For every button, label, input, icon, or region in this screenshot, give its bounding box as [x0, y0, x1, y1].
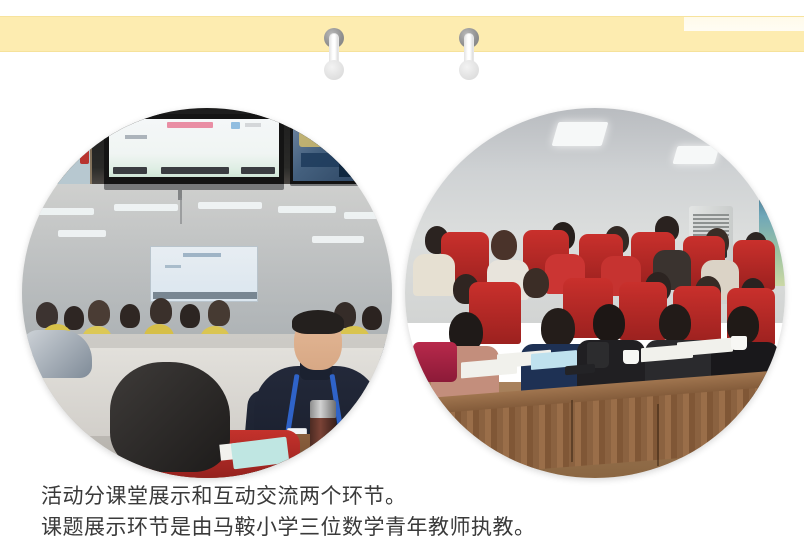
- table-panel-seam: [657, 404, 659, 466]
- photo-classroom-teacher-content: [22, 108, 392, 478]
- monitor-toolbar-right: [241, 167, 275, 174]
- left-wall-object: [52, 142, 68, 166]
- caption-block: 活动分课堂展示和互动交流两个环节。 课题展示环节是由马鞍小学三位数学青年教师执教…: [41, 481, 741, 543]
- audience-head: [491, 230, 517, 260]
- monitor-toolbar-left: [113, 167, 147, 174]
- photo-classroom-teacher: [22, 108, 392, 478]
- feed-shape-b: [329, 127, 351, 147]
- pin-left-icon: [323, 28, 345, 80]
- teacher-hair: [292, 310, 344, 334]
- ceiling-light: [58, 230, 106, 237]
- ceiling-light: [198, 202, 262, 209]
- front-person-head: [659, 304, 691, 342]
- photo-audience-hall: [405, 108, 785, 478]
- caption-line-2: 课题展示环节是由马鞍小学三位数学青年教师执教。: [41, 512, 741, 543]
- student-head: [208, 300, 230, 326]
- wall-monitor-secondary: [290, 118, 376, 186]
- feed-shape-a: [299, 131, 325, 147]
- wall-monitor-main: [104, 114, 284, 190]
- monitor-text-line: [245, 123, 261, 127]
- black-bag: [110, 362, 230, 472]
- front-person-head: [593, 304, 625, 342]
- red-object: [80, 142, 89, 164]
- ceiling-light-panel: [552, 122, 609, 146]
- page-root: 活动分课堂展示和互动交流两个环节。 课题展示环节是由马鞍小学三位数学青年教师执教…: [0, 0, 804, 549]
- ceiling-light: [344, 212, 388, 219]
- secondary-screen: [293, 121, 373, 181]
- ceiling-light: [114, 204, 178, 211]
- student-head: [88, 300, 110, 326]
- pin-foot: [324, 60, 344, 80]
- pin-right-icon: [458, 28, 480, 80]
- photo-audience-hall-content: [405, 108, 785, 478]
- monitor-subtext: [125, 135, 147, 139]
- banner-highlight: [684, 17, 804, 31]
- student-head: [120, 304, 140, 328]
- top-yellow-banner: [0, 16, 804, 52]
- table-cup: [731, 336, 747, 350]
- caption-line-1: 活动分课堂展示和互动交流两个环节。: [41, 481, 741, 512]
- monitor-icon: [231, 122, 240, 129]
- feed-shape-d: [339, 159, 359, 177]
- foreground-person: [22, 330, 92, 378]
- ceiling-light-panel: [672, 146, 719, 164]
- ceiling-light: [278, 206, 336, 213]
- audience-head: [523, 268, 549, 298]
- student-head: [180, 304, 200, 328]
- whiteboard-line: [165, 265, 181, 268]
- ceiling-light: [38, 208, 94, 215]
- thermos-cap: [310, 400, 336, 418]
- monitor-title-bar: [167, 122, 213, 128]
- student-head: [362, 306, 382, 330]
- ceiling-light: [312, 236, 364, 243]
- whiteboard-title: [183, 253, 221, 257]
- red-handbag: [413, 342, 457, 382]
- monitor-toolbar-center: [161, 167, 229, 174]
- table-cup: [623, 350, 639, 364]
- front-person-head: [541, 308, 575, 348]
- pin-foot: [459, 60, 479, 80]
- table-panel-seam: [571, 400, 573, 462]
- audience-body: [413, 254, 455, 296]
- student-head: [150, 298, 172, 324]
- monitor-screen: [109, 119, 279, 177]
